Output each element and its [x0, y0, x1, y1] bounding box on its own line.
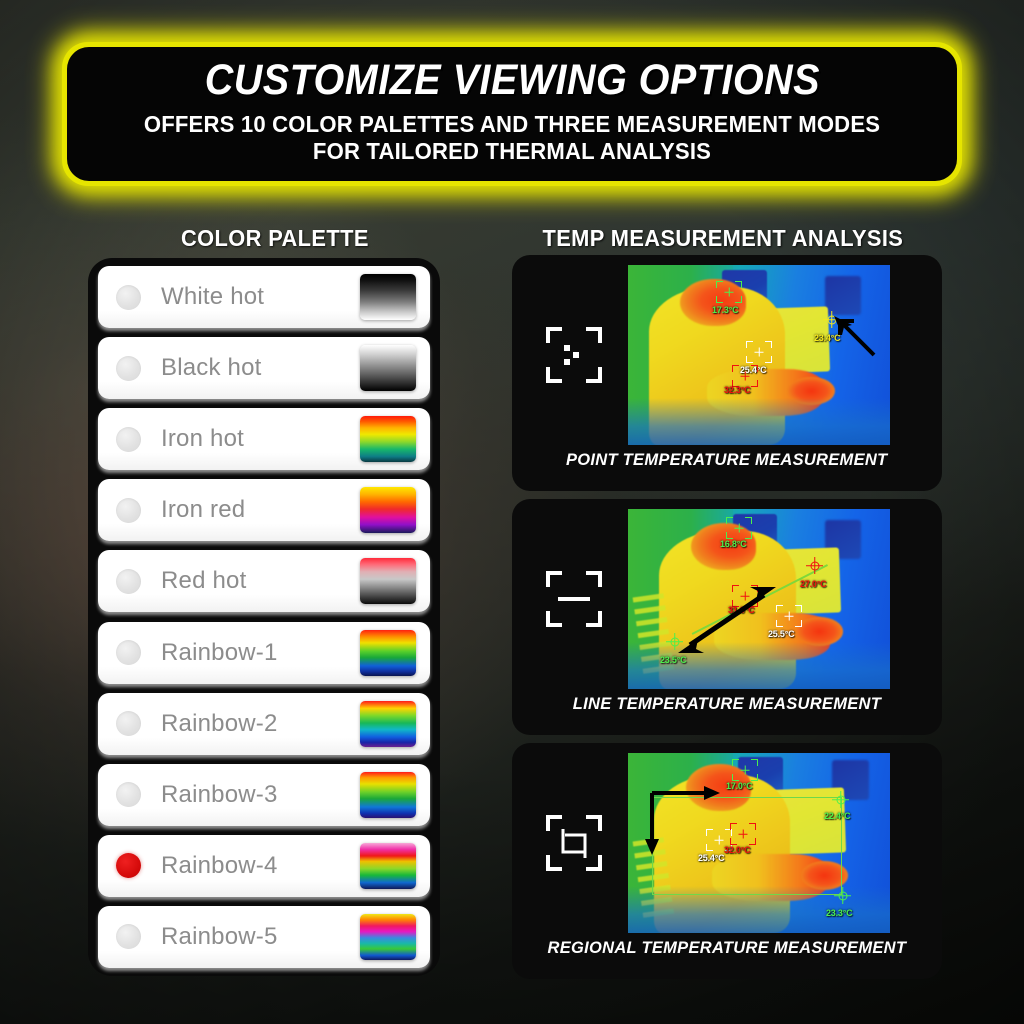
- drag-arrows-icon: [644, 781, 724, 863]
- radio-unselected-icon[interactable]: [116, 782, 141, 807]
- palette-item-rainbow-4[interactable]: Rainbow-4: [98, 835, 430, 897]
- palette-item-label: Iron red: [161, 496, 360, 524]
- palette-item-rainbow-2[interactable]: Rainbow-2: [98, 693, 430, 755]
- page-title: CUSTOMIZE VIEWING OPTIONS: [204, 58, 819, 104]
- thermal-image-point: 17.3°C 25.4°C 32.3°C 23.4°C: [628, 265, 890, 445]
- palette-item-rainbow-1[interactable]: Rainbow-1: [98, 622, 430, 684]
- panel-caption: LINE TEMPERATURE MEASUREMENT: [573, 694, 881, 714]
- radio-selected-icon[interactable]: [116, 853, 141, 878]
- radio-unselected-icon[interactable]: [116, 498, 141, 523]
- temp-reading: 23.3°C: [826, 908, 852, 918]
- line-measure-icon[interactable]: [520, 570, 628, 628]
- palette-item-rainbow-5[interactable]: Rainbow-5: [98, 906, 430, 968]
- palette-item-black-hot[interactable]: Black hot: [98, 337, 430, 399]
- measure-marker: [716, 281, 742, 303]
- temp-reading: 17.3°C: [712, 305, 738, 315]
- regional-measurement-panel[interactable]: 17.0°C 22.4°C 25.4°C 32.0°C 23.3°C REGIO…: [512, 743, 942, 979]
- temp-reading: 32.0°C: [724, 845, 750, 855]
- palette-item-label: Rainbow-2: [161, 710, 360, 738]
- palette-item-label: White hot: [161, 283, 360, 311]
- palette-item-label: Red hot: [161, 567, 360, 595]
- palette-swatch-preview: [360, 345, 416, 391]
- radio-unselected-icon[interactable]: [116, 640, 141, 665]
- palette-item-white-hot[interactable]: White hot: [98, 266, 430, 328]
- panel-body: 17.0°C 22.4°C 25.4°C 32.0°C 23.3°C: [512, 751, 942, 935]
- cursor-arrow-icon: [830, 313, 876, 357]
- temp-reading: 17.0°C: [726, 781, 752, 791]
- palette-swatch-preview: [360, 772, 416, 818]
- palette-item-label: Iron hot: [161, 425, 360, 453]
- thermal-image-line: 16.8°C 27.0°C 31.9°C 25.5°C 23.5°C: [628, 509, 890, 689]
- palette-item-label: Rainbow-5: [161, 923, 360, 951]
- palette-item-red-hot[interactable]: Red hot: [98, 550, 430, 612]
- measure-marker: [832, 791, 849, 808]
- palette-swatch-preview: [360, 914, 416, 960]
- palette-item-iron-hot[interactable]: Iron hot: [98, 408, 430, 470]
- double-arrow-icon: [672, 583, 782, 659]
- palette-item-label: Rainbow-4: [161, 852, 360, 880]
- line-measurement-panel[interactable]: 16.8°C 27.0°C 31.9°C 25.5°C 23.5°C LINE …: [512, 499, 942, 735]
- palette-item-iron-red[interactable]: Iron red: [98, 479, 430, 541]
- palette-swatch-preview: [360, 558, 416, 604]
- temp-reading: 27.0°C: [800, 579, 826, 589]
- radio-unselected-icon[interactable]: [116, 569, 141, 594]
- radio-unselected-icon[interactable]: [116, 924, 141, 949]
- radio-unselected-icon[interactable]: [116, 356, 141, 381]
- palette-swatch-preview: [360, 416, 416, 462]
- measure-marker: [806, 557, 823, 574]
- palette-swatch-preview: [360, 487, 416, 533]
- panel-caption: POINT TEMPERATURE MEASUREMENT: [566, 450, 887, 470]
- radio-unselected-icon[interactable]: [116, 711, 141, 736]
- point-measurement-panel[interactable]: 17.3°C 25.4°C 32.3°C 23.4°C POINT TEMPER…: [512, 255, 942, 491]
- palette-swatch-preview: [360, 701, 416, 747]
- color-palette-heading: COLOR PALETTE: [181, 225, 369, 252]
- measure-marker: [732, 759, 758, 781]
- measure-marker: [834, 887, 851, 904]
- panel-body: 17.3°C 25.4°C 32.3°C 23.4°C: [512, 263, 942, 447]
- measure-marker: [732, 365, 758, 387]
- palette-item-label: Rainbow-3: [161, 781, 360, 809]
- header-banner: CUSTOMIZE VIEWING OPTIONS OFFERS 10 COLO…: [62, 42, 962, 186]
- thermal-image-region: 17.0°C 22.4°C 25.4°C 32.0°C 23.3°C: [628, 753, 890, 933]
- temp-reading: 22.4°C: [824, 811, 850, 821]
- palette-swatch-preview: [360, 274, 416, 320]
- palette-item-label: Rainbow-1: [161, 639, 360, 667]
- measure-marker: [726, 517, 752, 539]
- header-content: CUSTOMIZE VIEWING OPTIONS OFFERS 10 COLO…: [67, 47, 957, 181]
- panel-body: 16.8°C 27.0°C 31.9°C 25.5°C 23.5°C: [512, 507, 942, 691]
- radio-unselected-icon[interactable]: [116, 427, 141, 452]
- radio-unselected-icon[interactable]: [116, 285, 141, 310]
- page-subtitle: OFFERS 10 COLOR PALETTES AND THREE MEASU…: [118, 111, 906, 166]
- palette-swatch-preview: [360, 630, 416, 676]
- color-palette-list: White hotBlack hotIron hotIron redRed ho…: [88, 258, 440, 976]
- palette-item-label: Black hot: [161, 354, 360, 382]
- measure-marker: [730, 823, 756, 845]
- measure-marker: [746, 341, 772, 363]
- temp-reading: 16.8°C: [720, 539, 746, 549]
- panel-caption: REGIONAL TEMPERATURE MEASUREMENT: [548, 938, 907, 958]
- region-measure-icon[interactable]: [520, 814, 628, 872]
- temp-reading: 32.3°C: [724, 385, 750, 395]
- palette-item-rainbow-3[interactable]: Rainbow-3: [98, 764, 430, 826]
- palette-swatch-preview: [360, 843, 416, 889]
- point-measure-icon[interactable]: [520, 326, 628, 384]
- temp-measurement-heading: TEMP MEASUREMENT ANALYSIS: [542, 225, 903, 252]
